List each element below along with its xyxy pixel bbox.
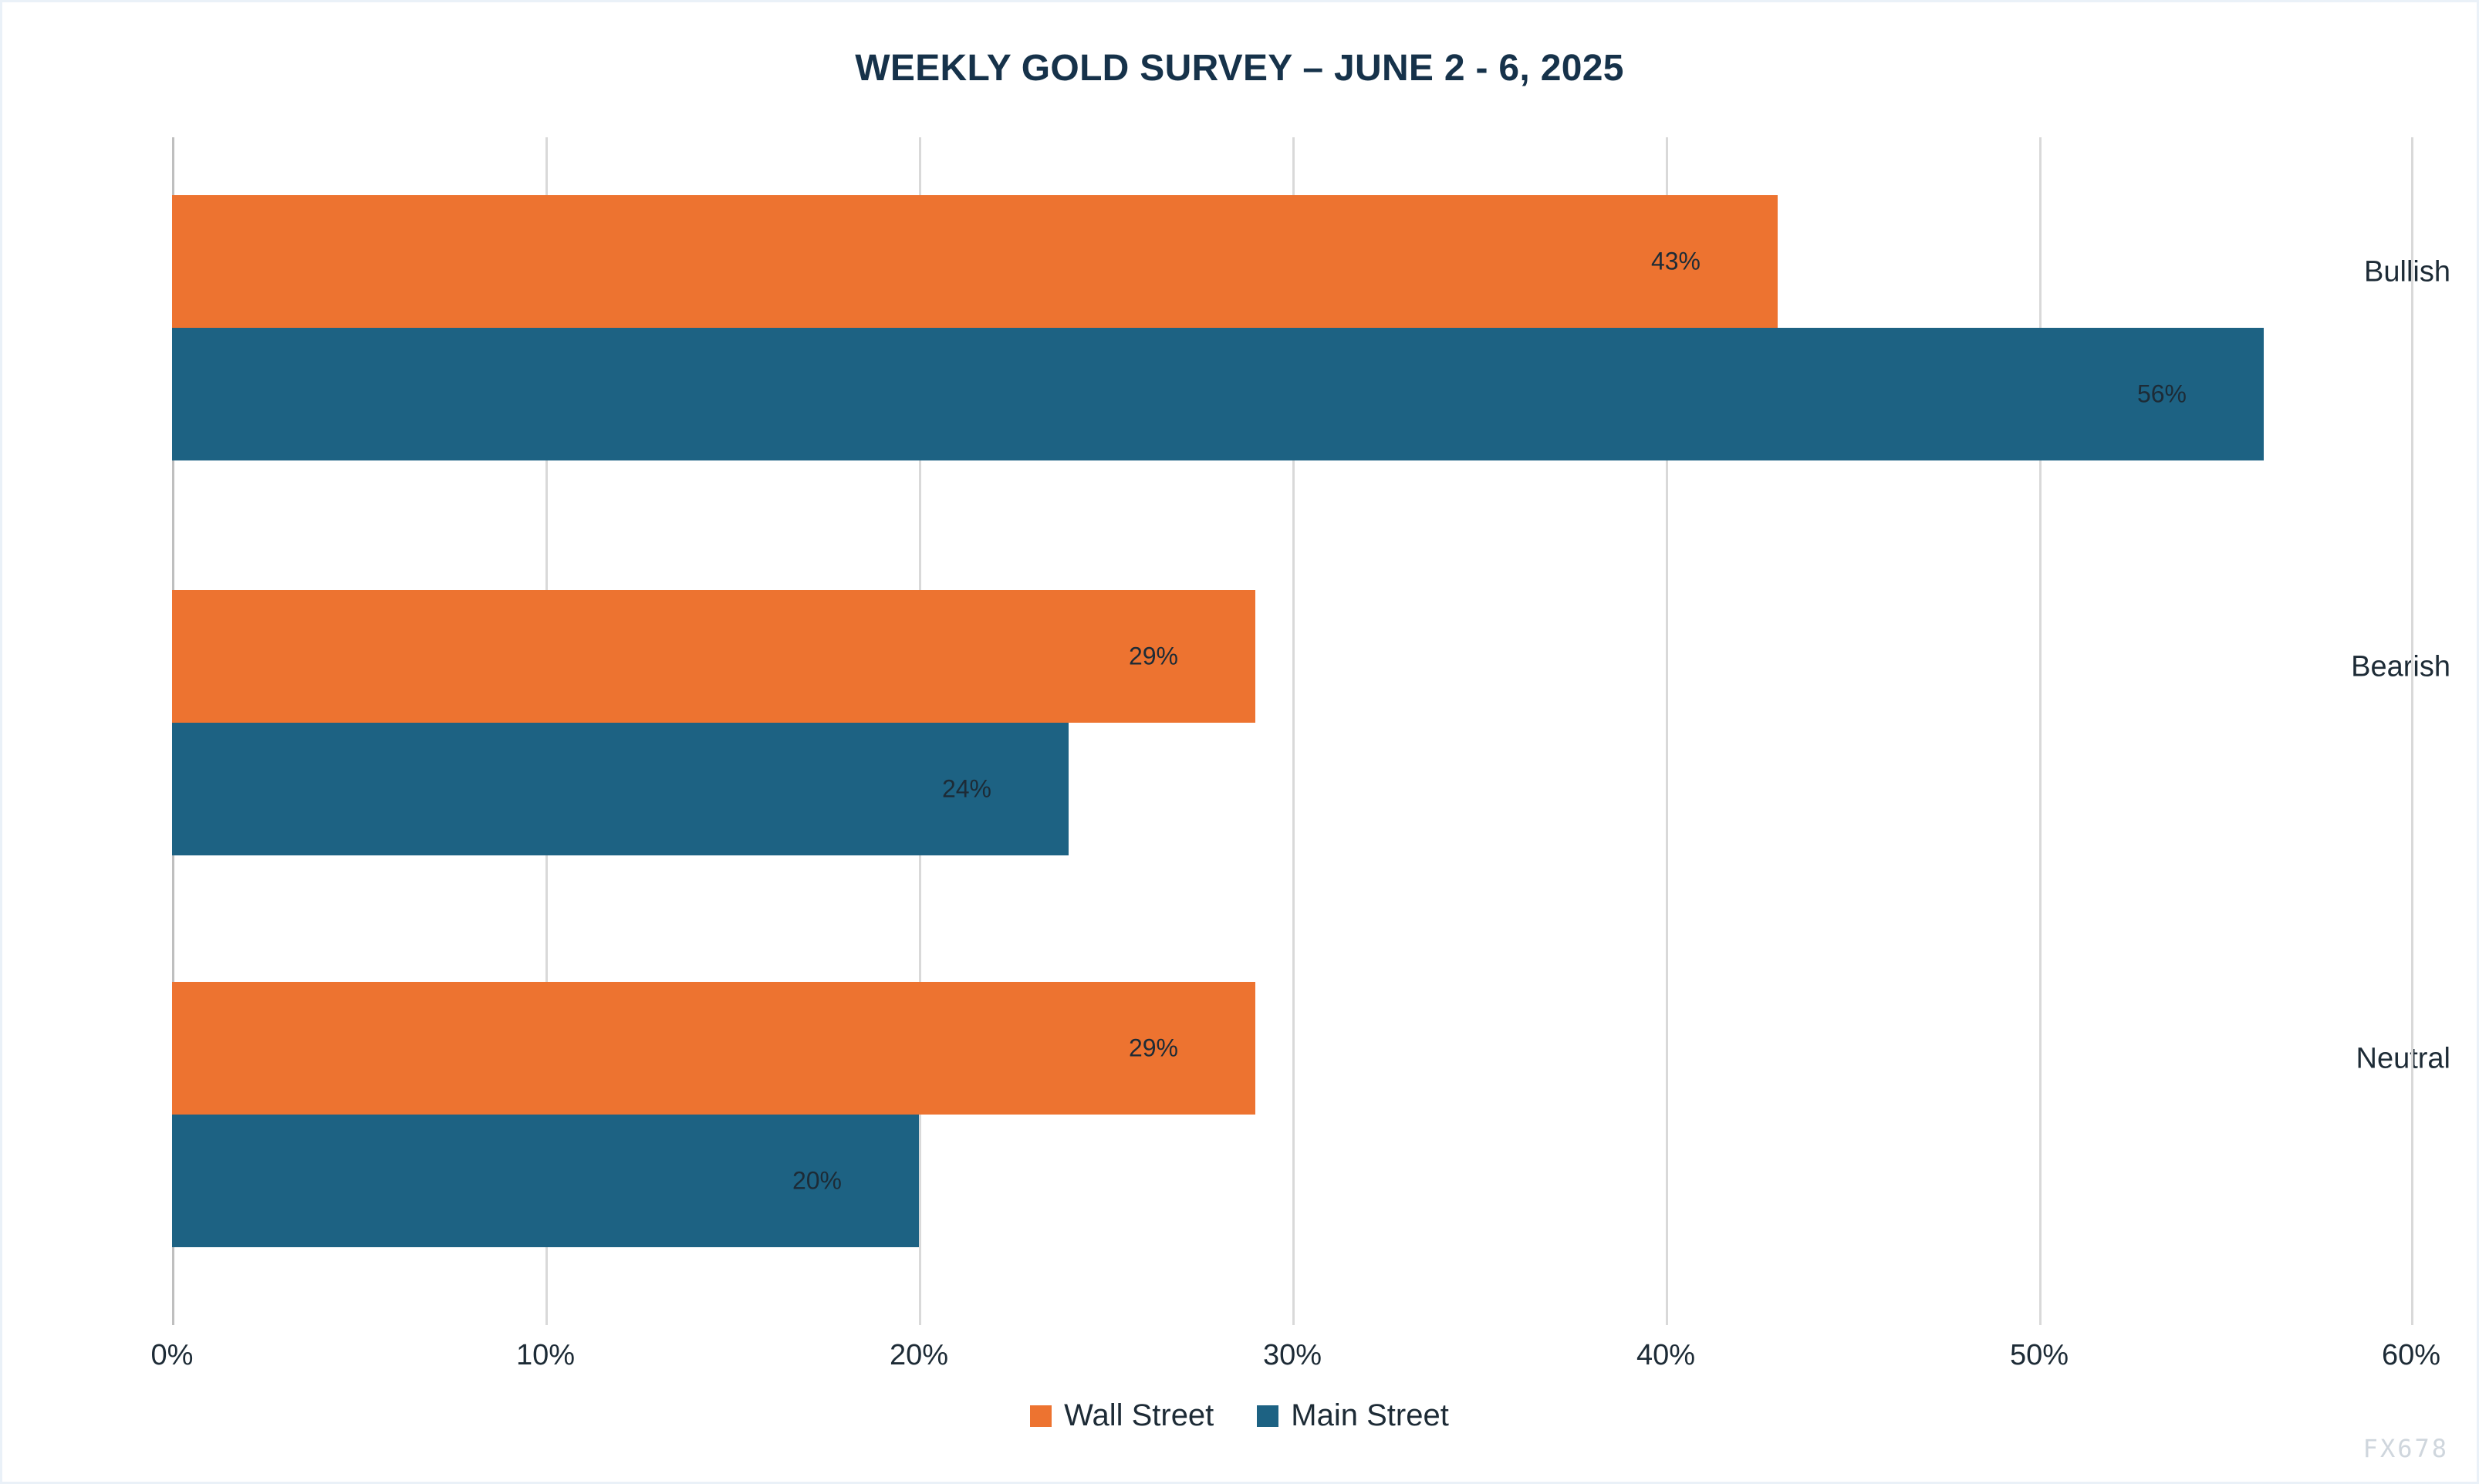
x-tick-20: 20%	[890, 1339, 948, 1372]
bar-value-bearish-main-street: 24%	[942, 775, 991, 804]
legend-item-main-street[interactable]: Main Street	[1257, 1398, 1449, 1433]
x-tick-10: 10%	[516, 1339, 575, 1372]
legend-label-wall-street: Wall Street	[1064, 1398, 1214, 1433]
gridline-50	[2039, 137, 2042, 1325]
x-tick-30: 30%	[1263, 1339, 1322, 1372]
gridline-60	[2411, 137, 2413, 1325]
bar-value-neutral-wall-street: 29%	[1129, 1034, 1178, 1063]
bar-bearish-main-street[interactable]	[172, 723, 1069, 855]
x-tick-40: 40%	[1636, 1339, 1695, 1372]
chart-legend: Wall Street Main Street	[2, 1398, 2477, 1433]
bar-value-bearish-wall-street: 29%	[1129, 643, 1178, 671]
bar-bullish-main-street[interactable]	[172, 328, 2264, 460]
bar-neutral-wall-street[interactable]	[172, 982, 1255, 1115]
legend-swatch-main-street	[1257, 1405, 1278, 1427]
chart-canvas: WEEKLY GOLD SURVEY – JUNE 2 - 6, 2025 Bu…	[0, 0, 2479, 1484]
legend-label-main-street: Main Street	[1291, 1398, 1449, 1433]
chart-title: WEEKLY GOLD SURVEY – JUNE 2 - 6, 2025	[2, 47, 2477, 89]
bar-bearish-wall-street[interactable]	[172, 590, 1255, 723]
plot-area: 43% 56% 29% 24% 29%	[172, 137, 2413, 1325]
bar-value-neutral-main-street: 20%	[792, 1167, 842, 1196]
watermark: FX678	[2363, 1434, 2449, 1463]
bar-value-bullish-main-street: 56%	[2137, 380, 2187, 409]
x-tick-50: 50%	[2010, 1339, 2069, 1372]
bar-bullish-wall-street[interactable]	[172, 195, 1778, 328]
x-tick-0: 0%	[151, 1339, 194, 1372]
bar-value-bullish-wall-street: 43%	[1651, 248, 1701, 276]
legend-swatch-wall-street	[1030, 1405, 1052, 1427]
legend-item-wall-street[interactable]: Wall Street	[1030, 1398, 1214, 1433]
x-tick-60: 60%	[2382, 1339, 2440, 1372]
